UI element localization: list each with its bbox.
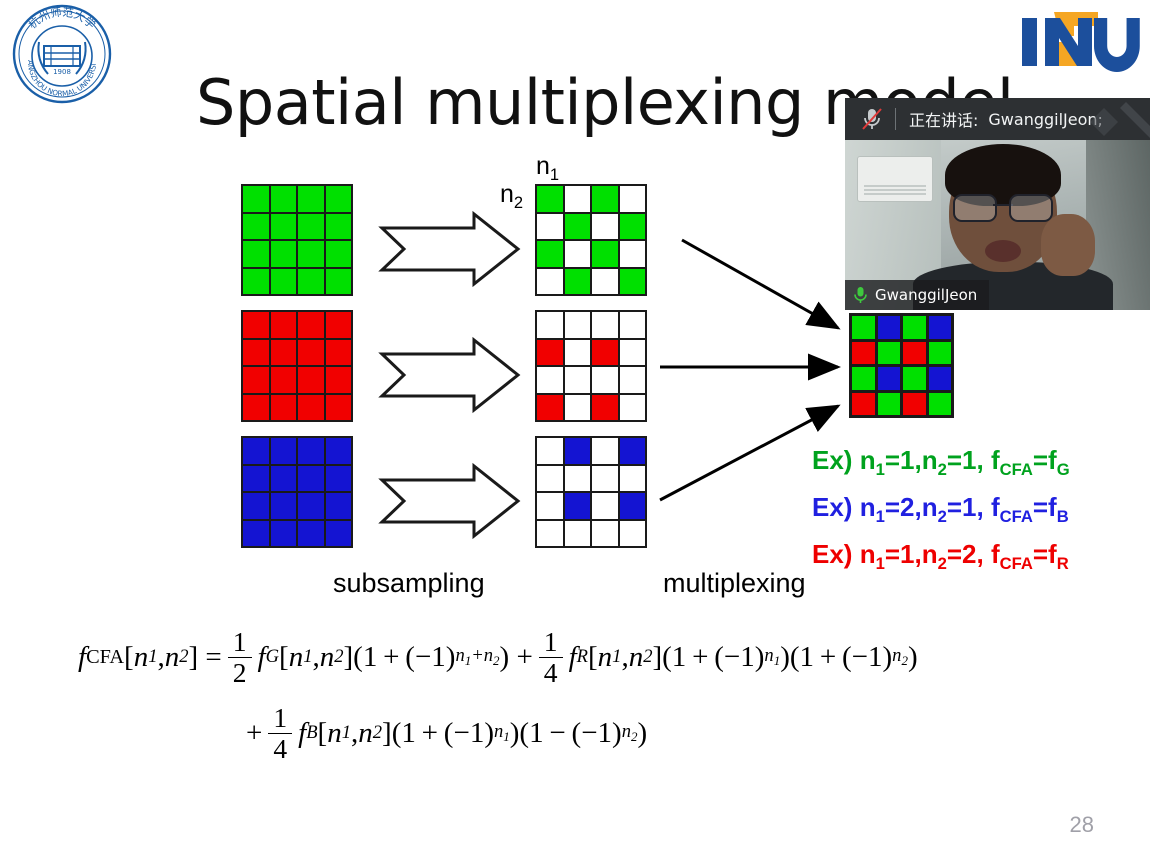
- cfa-formula: fCFA[n1,n2] = 12 fG[n1,n2](1 + (−1)n1+n2…: [78, 628, 1078, 762]
- example-list: Ex) n1=1,n2=1, fCFA=fG Ex) n1=2,n2=1, fC…: [812, 443, 1070, 585]
- hangzhou-normal-university-logo: 1908 HANGZHOU NORMAL UNIVERSITY 杭州师范大学: [6, 2, 118, 106]
- zoom-participant-name: GwanggilJeon: [875, 286, 977, 304]
- subsampling-arrow-red: [378, 336, 522, 414]
- svg-text:1908: 1908: [53, 68, 71, 76]
- microphone-muted-icon[interactable]: [861, 107, 883, 131]
- video-person-hand: [1041, 214, 1095, 276]
- zoom-speaking-label: 正在讲话:: [909, 107, 978, 131]
- zoom-header-divider: [895, 108, 896, 130]
- inu-logo: [1012, 6, 1144, 78]
- example-red: Ex) n1=1,n2=2, fCFA=fR: [812, 537, 1070, 581]
- zoom-video-overlay[interactable]: 正在讲话: GwanggilJeon;: [845, 98, 1150, 310]
- page-number: 28: [1070, 812, 1094, 838]
- video-person-mouth: [985, 240, 1021, 262]
- subsampling-arrow-green: [378, 210, 522, 288]
- presentation-slide: 1908 HANGZHOU NORMAL UNIVERSITY 杭州师范大学 S…: [0, 0, 1150, 862]
- subsampling-arrow-blue: [378, 462, 522, 540]
- formula-line-1: fCFA[n1,n2] = 12 fG[n1,n2](1 + (−1)n1+n2…: [78, 628, 1078, 686]
- zoom-corner-chevrons-icon: [1090, 102, 1150, 140]
- axis-label-n2: n2: [500, 180, 523, 213]
- svg-text:杭州师范大学: 杭州师范大学: [25, 5, 98, 32]
- caption-subsampling: subsampling: [333, 568, 485, 599]
- zoom-participant-badge: GwanggilJeon: [845, 280, 989, 310]
- example-blue: Ex) n1=2,n2=1, fCFA=fB: [812, 490, 1070, 534]
- axis-label-n1: n1: [536, 152, 559, 185]
- red-source-grid: [241, 310, 353, 422]
- example-green: Ex) n1=1,n2=1, fCFA=fG: [812, 443, 1070, 487]
- formula-line-2: + 14 fB[n1,n2](1 + (−1)n1)(1 − (−1)n2): [78, 704, 1078, 762]
- blue-source-grid: [241, 436, 353, 548]
- video-person-glasses: [953, 194, 1053, 218]
- green-source-grid: [241, 184, 353, 296]
- bayer-cfa-mosaic: [849, 313, 954, 418]
- blue-subsampled-grid: [535, 436, 647, 548]
- zoom-speaking-bar: 正在讲话: GwanggilJeon;: [845, 98, 1150, 140]
- video-air-conditioner: [857, 156, 933, 202]
- red-subsampled-grid: [535, 310, 647, 422]
- microphone-active-icon: [853, 286, 868, 305]
- green-subsampled-grid: [535, 184, 647, 296]
- caption-multiplexing: multiplexing: [663, 568, 806, 599]
- zoom-video-feed[interactable]: GwanggilJeon: [845, 140, 1150, 310]
- zoom-speaker-name: GwanggilJeon;: [988, 110, 1103, 129]
